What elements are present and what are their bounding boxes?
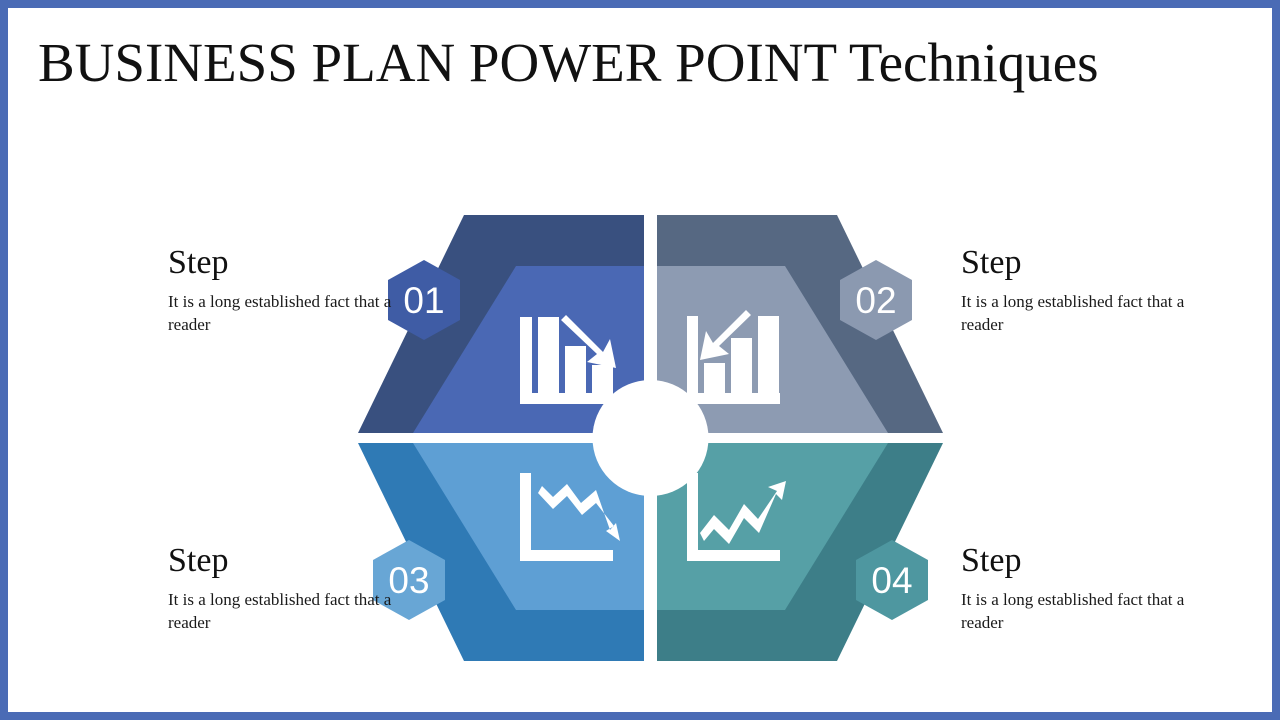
step-text-block-04: Step It is a long established fact that … <box>961 540 1211 634</box>
slide-canvas: BUSINESS PLAN POWER POINT Techniques <box>8 8 1272 712</box>
page-title: BUSINESS PLAN POWER POINT Techniques <box>38 30 1248 96</box>
step-heading-02: Step <box>961 242 1211 284</box>
step-heading-04: Step <box>961 540 1211 582</box>
step-badge-02-number: 02 <box>855 282 896 319</box>
step-heading-01: Step <box>168 242 418 284</box>
step-body-04: It is a long established fact that a rea… <box>961 588 1211 634</box>
step-body-02: It is a long established fact that a rea… <box>961 290 1211 336</box>
step-text-block-03: Step It is a long established fact that … <box>168 540 418 634</box>
step-badge-04-number: 04 <box>871 562 912 599</box>
step-text-block-01: Step It is a long established fact that … <box>168 242 418 336</box>
step-heading-03: Step <box>168 540 418 582</box>
step-text-block-02: Step It is a long established fact that … <box>961 242 1211 336</box>
step-body-01: It is a long established fact that a rea… <box>168 290 418 336</box>
step-body-03: It is a long established fact that a rea… <box>168 588 418 634</box>
